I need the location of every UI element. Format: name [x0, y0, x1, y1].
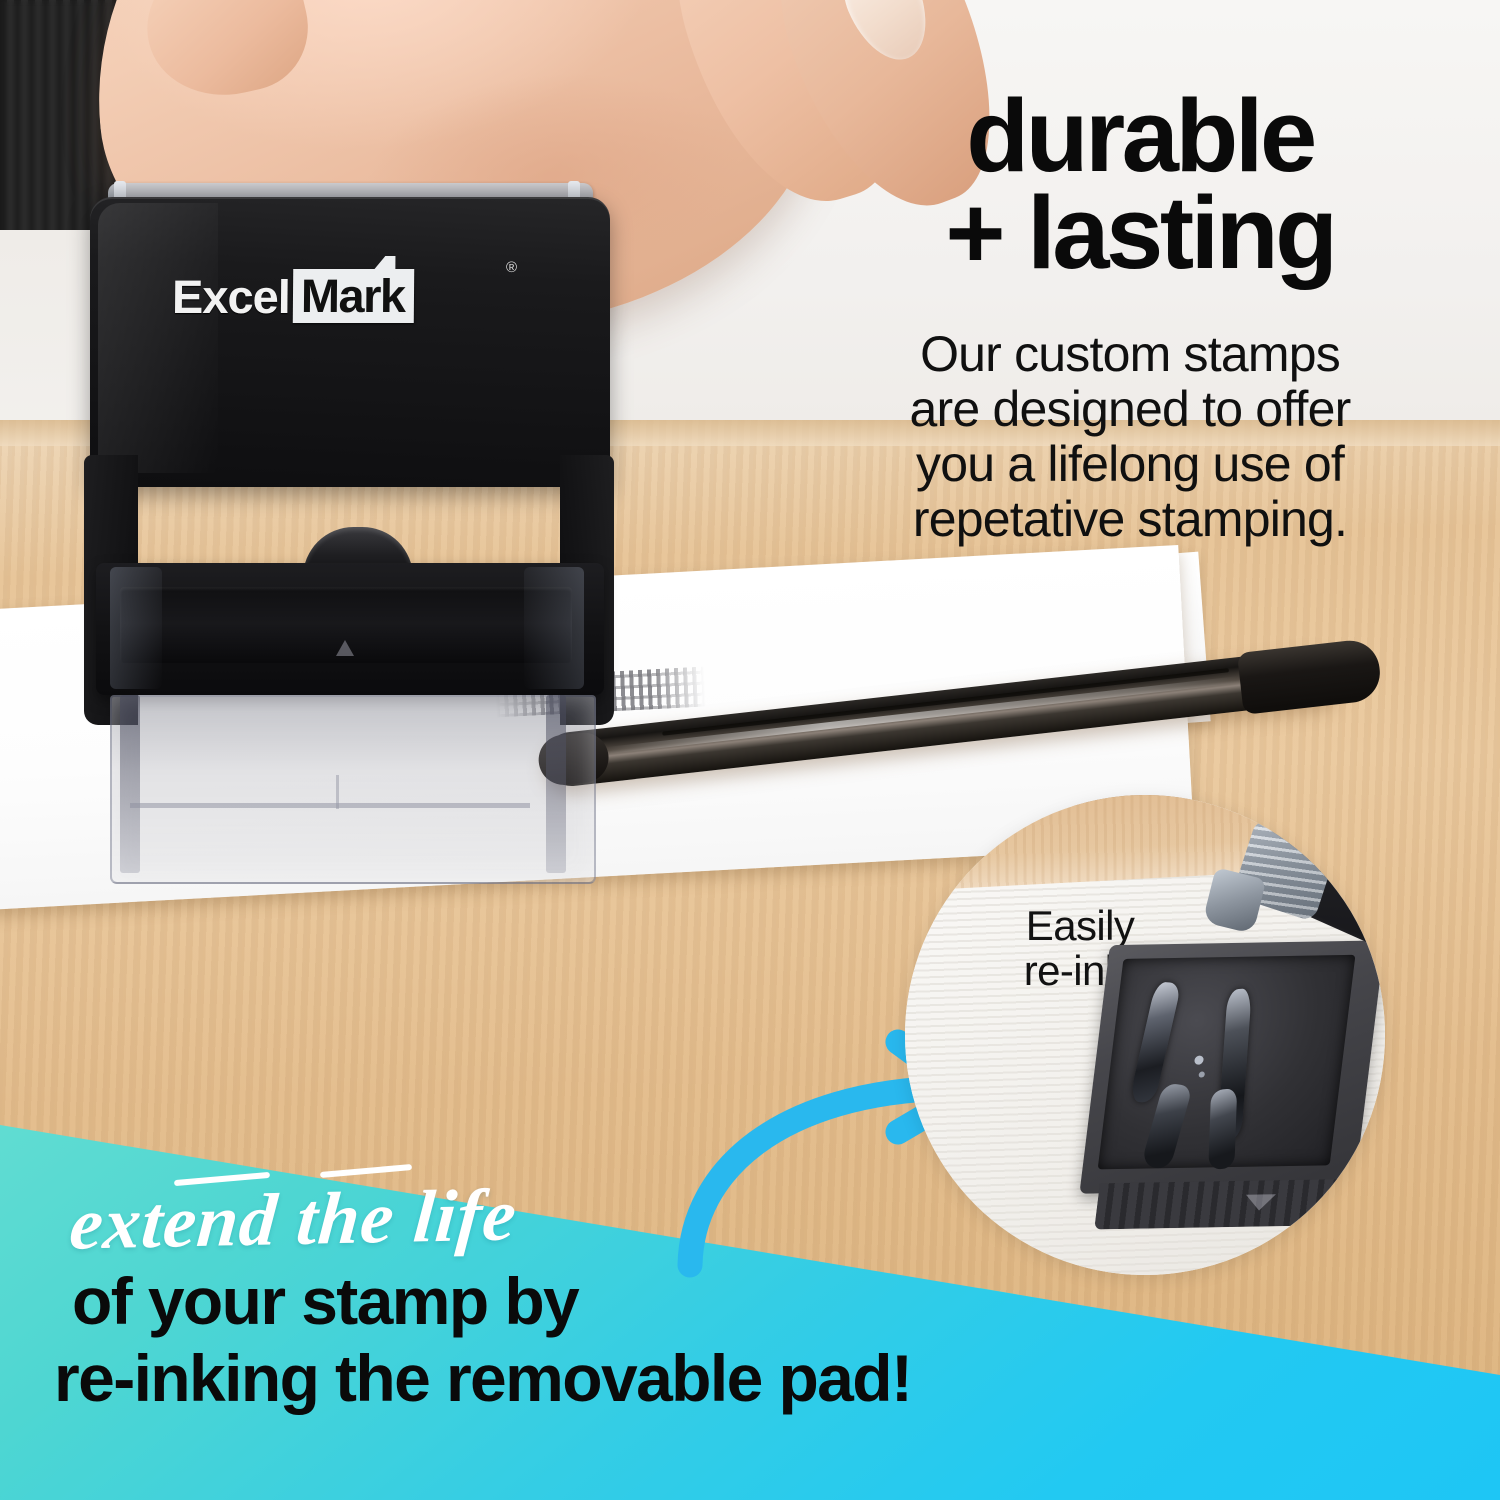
stamp-transparent-base — [110, 695, 596, 884]
subcopy-line-2: are designed to offer — [780, 382, 1480, 437]
subcopy-line-3: you a lifelong use of — [780, 437, 1480, 492]
ink-pad-ribbed-side — [1094, 1179, 1375, 1230]
base-shelf-line — [130, 803, 530, 808]
logo-mark-box: Mark — [293, 269, 414, 323]
chevron-up-icon — [336, 640, 354, 656]
callout-line-1: Easily — [965, 903, 1195, 948]
subcopy-line-4: repetative stamping. — [780, 492, 1480, 547]
mid-highlight-left — [110, 567, 162, 689]
product-marketing-image: Excel Mark ® durable + lasting — [0, 0, 1500, 1500]
banner-line-2: re-inking the removable pad! — [54, 1345, 911, 1411]
base-center-line — [336, 775, 339, 809]
registered-trademark-icon: ® — [506, 259, 517, 276]
ink-drip — [1208, 1088, 1237, 1170]
headline-line-2: + lasting — [800, 185, 1480, 282]
self-inking-stamp: Excel Mark ® — [68, 155, 628, 775]
subcopy-line-1: Our custom stamps — [780, 327, 1480, 382]
mid-highlight-right — [524, 567, 584, 689]
logo-excel-text: Excel — [172, 273, 290, 320]
ink-bottle-nozzle — [1202, 867, 1266, 934]
base-rail-left — [120, 695, 140, 873]
excelmark-logo: Excel Mark — [172, 269, 414, 323]
base-rail-right — [546, 695, 566, 873]
subcopy: Our custom stamps are designed to offer … — [780, 327, 1480, 547]
headline-line-1: durable — [800, 88, 1480, 185]
headline: durable + lasting — [800, 88, 1480, 282]
logo-flag-notch — [371, 256, 395, 273]
chevron-down-icon — [1244, 1194, 1276, 1211]
stamp-highlight — [98, 203, 218, 473]
banner-script-text: extend the life — [66, 1173, 520, 1268]
reink-circle-inset: Easily re-ink! — [905, 795, 1385, 1275]
logo-mark-text: Mark — [301, 269, 405, 322]
thumb-tip — [133, 0, 320, 111]
banner-line-1: of your stamp by — [72, 1268, 578, 1334]
